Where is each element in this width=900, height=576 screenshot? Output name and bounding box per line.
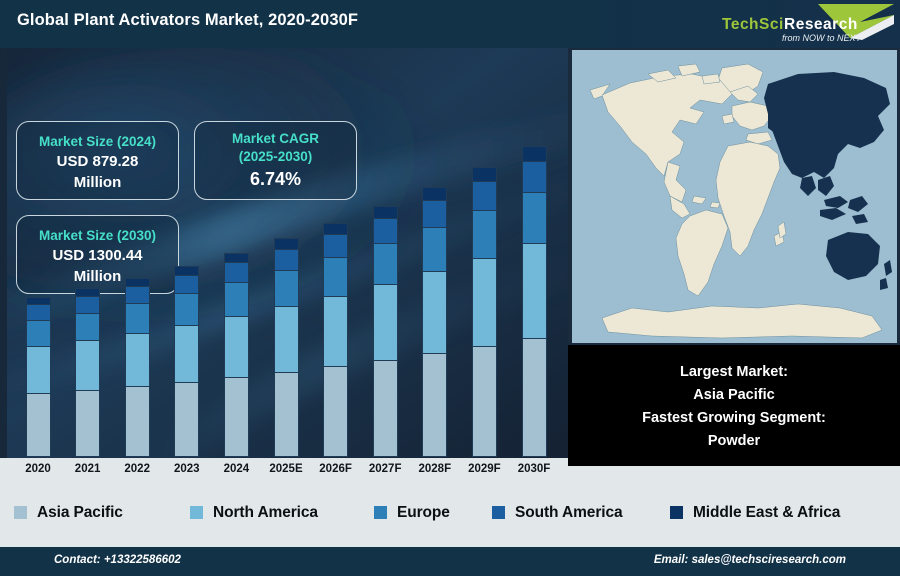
bar-2027F [373, 206, 398, 456]
bar-segment-asia-pacific [422, 353, 447, 457]
bar-segment-asia-pacific [373, 360, 398, 457]
bar-segment-south-america [75, 296, 100, 313]
svg-text:TechSci: TechSci [722, 16, 784, 33]
fastest-segment-label: Fastest Growing Segment: [642, 407, 826, 430]
footer-email: Email: sales@techsciresearch.com [654, 554, 846, 566]
bar-segment-south-america [174, 275, 199, 294]
bar-segment-asia-pacific [472, 346, 497, 458]
legend-swatch [670, 506, 683, 519]
bar-segment-north-america [75, 340, 100, 391]
bar-segment-asia-pacific [75, 390, 100, 457]
bar-segment-north-america [472, 258, 497, 347]
x-tick-2020: 2020 [10, 463, 66, 475]
legend-swatch [14, 506, 27, 519]
x-tick-2024: 2024 [208, 463, 264, 475]
bar-segment-europe [274, 270, 299, 307]
bar-segment-asia-pacific [174, 382, 199, 457]
bar-segment-south-america [422, 200, 447, 227]
bar-segment-north-america [422, 271, 447, 353]
key-findings-callout: Largest Market: Asia Pacific Fastest Gro… [568, 345, 900, 466]
header-bar: Global Plant Activators Market, 2020-203… [0, 0, 900, 48]
bar-segment-asia-pacific [323, 366, 348, 457]
bar-segment-europe [75, 313, 100, 342]
legend-item-middle-east-africa[interactable]: Middle East & Africa [670, 504, 840, 522]
legend-label: Middle East & Africa [693, 504, 840, 522]
bar-segment-north-america [373, 284, 398, 361]
bar-segment-middle-east-africa [472, 167, 497, 182]
bar-2023 [174, 266, 199, 456]
bar-segment-europe [373, 243, 398, 285]
largest-market-value: Asia Pacific [693, 384, 774, 407]
legend-label: Asia Pacific [37, 504, 123, 522]
x-tick-2021: 2021 [60, 463, 116, 475]
x-tick-2022: 2022 [109, 463, 165, 475]
bar-segment-asia-pacific [522, 338, 547, 457]
legend-item-asia-pacific[interactable]: Asia Pacific [14, 504, 123, 522]
footer-contact: Contact: +13322586602 [54, 554, 181, 566]
bar-2020 [26, 297, 51, 456]
bar-segment-asia-pacific [26, 393, 51, 457]
bar-segment-north-america [174, 325, 199, 383]
bar-segment-south-america [125, 286, 150, 304]
footer-bar: Contact: +13322586602 Email: sales@techs… [0, 547, 900, 576]
largest-market-label: Largest Market: [680, 361, 788, 384]
bar-segment-south-america [274, 249, 299, 271]
bar-2026F [323, 223, 348, 456]
world-map [572, 50, 897, 343]
fastest-segment-value: Powder [708, 430, 760, 453]
bar-segment-europe [472, 210, 497, 259]
techsci-research-logo: TechSci Research from NOW to NEXT [710, 2, 896, 46]
bar-segment-north-america [323, 296, 348, 367]
bar-2021 [75, 288, 100, 456]
bar-segment-europe [422, 227, 447, 273]
bar-2030F [522, 146, 547, 456]
legend-item-europe[interactable]: Europe [374, 504, 450, 522]
bar-segment-middle-east-africa [373, 206, 398, 219]
bar-segment-north-america [26, 346, 51, 394]
bar-segment-north-america [125, 333, 150, 387]
bar-segment-south-america [323, 234, 348, 258]
stacked-bar-chart [0, 48, 568, 466]
bar-2024 [224, 253, 249, 456]
bar-segment-europe [323, 257, 348, 297]
bar-segment-europe [224, 282, 249, 317]
bar-segment-north-america [224, 316, 249, 378]
chart-legend: Asia PacificNorth AmericaEuropeSouth Ame… [0, 490, 900, 535]
map-antarctica [602, 304, 882, 338]
bar-segment-europe [26, 320, 51, 347]
bar-segment-asia-pacific [125, 386, 150, 457]
x-axis-labels: 202020212022202320242025E2026F2027F2028F… [0, 458, 568, 490]
bar-segment-europe [125, 303, 150, 334]
legend-item-north-america[interactable]: North America [190, 504, 318, 522]
legend-label: South America [515, 504, 623, 522]
bar-segment-south-america [472, 181, 497, 210]
x-tick-2029F: 2029F [456, 463, 512, 475]
bar-segment-middle-east-africa [422, 187, 447, 201]
bar-segment-middle-east-africa [522, 146, 547, 162]
x-tick-2026F: 2026F [308, 463, 364, 475]
bar-segment-north-america [522, 243, 547, 339]
bar-segment-asia-pacific [274, 372, 299, 457]
bar-segment-south-america [26, 304, 51, 320]
bar-segment-south-america [522, 161, 547, 193]
legend-label: Europe [397, 504, 450, 522]
x-tick-2023: 2023 [159, 463, 215, 475]
bar-2025E [274, 238, 299, 456]
legend-swatch [190, 506, 203, 519]
legend-swatch [374, 506, 387, 519]
bar-segment-europe [174, 293, 199, 325]
legend-label: North America [213, 504, 318, 522]
x-tick-2028F: 2028F [407, 463, 463, 475]
bar-segment-europe [522, 192, 547, 245]
x-tick-2025E: 2025E [258, 463, 314, 475]
bar-segment-south-america [224, 262, 249, 283]
bar-segment-south-america [373, 218, 398, 243]
legend-swatch [492, 506, 505, 519]
bar-2022 [125, 278, 150, 456]
infographic-page: Global Plant Activators Market, 2020-203… [0, 0, 900, 576]
bar-segment-north-america [274, 306, 299, 372]
svg-text:from NOW to NEXT: from NOW to NEXT [782, 33, 863, 43]
bar-2029F [472, 167, 497, 456]
world-map-panel [568, 48, 900, 345]
x-tick-2027F: 2027F [357, 463, 413, 475]
page-title: Global Plant Activators Market, 2020-203… [17, 11, 358, 30]
chart-panel: Market Size (2024) USD 879.28 Million Ma… [0, 48, 568, 466]
legend-item-south-america[interactable]: South America [492, 504, 623, 522]
bar-2028F [422, 187, 447, 456]
bar-segment-asia-pacific [224, 377, 249, 457]
x-tick-2030F: 2030F [506, 463, 562, 475]
svg-text:Research: Research [784, 16, 858, 33]
